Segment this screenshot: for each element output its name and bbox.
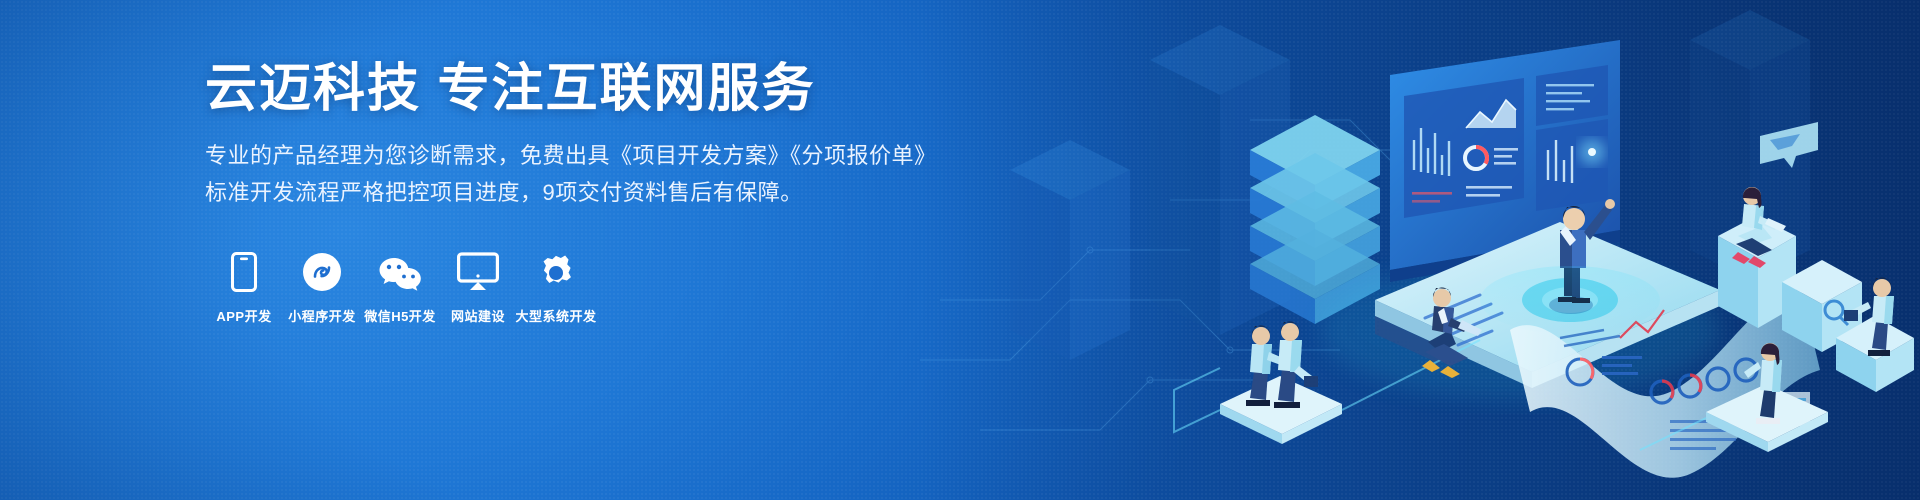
service-label-app: APP开发 — [216, 306, 271, 325]
service-label-website: 网站建设 — [451, 306, 505, 325]
subtitle-line-1: 专业的产品经理为您诊断需求，免费出具《项目开发方案》《分项报价单》 — [205, 138, 965, 175]
service-icon-list: APP开发 小程序开发 微信H5开发 — [205, 246, 965, 325]
mini-program-icon — [302, 246, 342, 292]
service-label-large-system: 大型系统开发 — [516, 306, 597, 325]
mobile-phone-icon — [231, 246, 257, 292]
service-label-wechat-h5: 微信H5开发 — [364, 306, 436, 325]
banner-subtitle: 专业的产品经理为您诊断需求，免费出具《项目开发方案》《分项报价单》 标准开发流程… — [205, 138, 965, 212]
monitor-icon — [457, 246, 499, 292]
page-title: 云迈科技 专注互联网服务 — [205, 60, 965, 118]
service-item-wechat-h5[interactable]: 微信H5开发 — [361, 246, 439, 325]
service-item-mini-program[interactable]: 小程序开发 — [283, 246, 361, 325]
service-label-mini-program: 小程序开发 — [288, 306, 356, 325]
service-item-app[interactable]: APP开发 — [205, 246, 283, 325]
isometric-illustration — [920, 0, 1920, 500]
service-item-large-system[interactable]: 大型系统开发 — [517, 246, 595, 325]
service-item-website[interactable]: 网站建设 — [439, 246, 517, 325]
hero-banner: 云迈科技 专注互联网服务 专业的产品经理为您诊断需求，免费出具《项目开发方案》《… — [0, 0, 1920, 500]
wechat-icon — [377, 246, 423, 292]
gear-icon — [536, 246, 576, 292]
banner-content: 云迈科技 专注互联网服务 专业的产品经理为您诊断需求，免费出具《项目开发方案》《… — [205, 60, 965, 325]
subtitle-line-2: 标准开发流程严格把控项目进度，9项交付资料售后有保障。 — [205, 175, 965, 212]
